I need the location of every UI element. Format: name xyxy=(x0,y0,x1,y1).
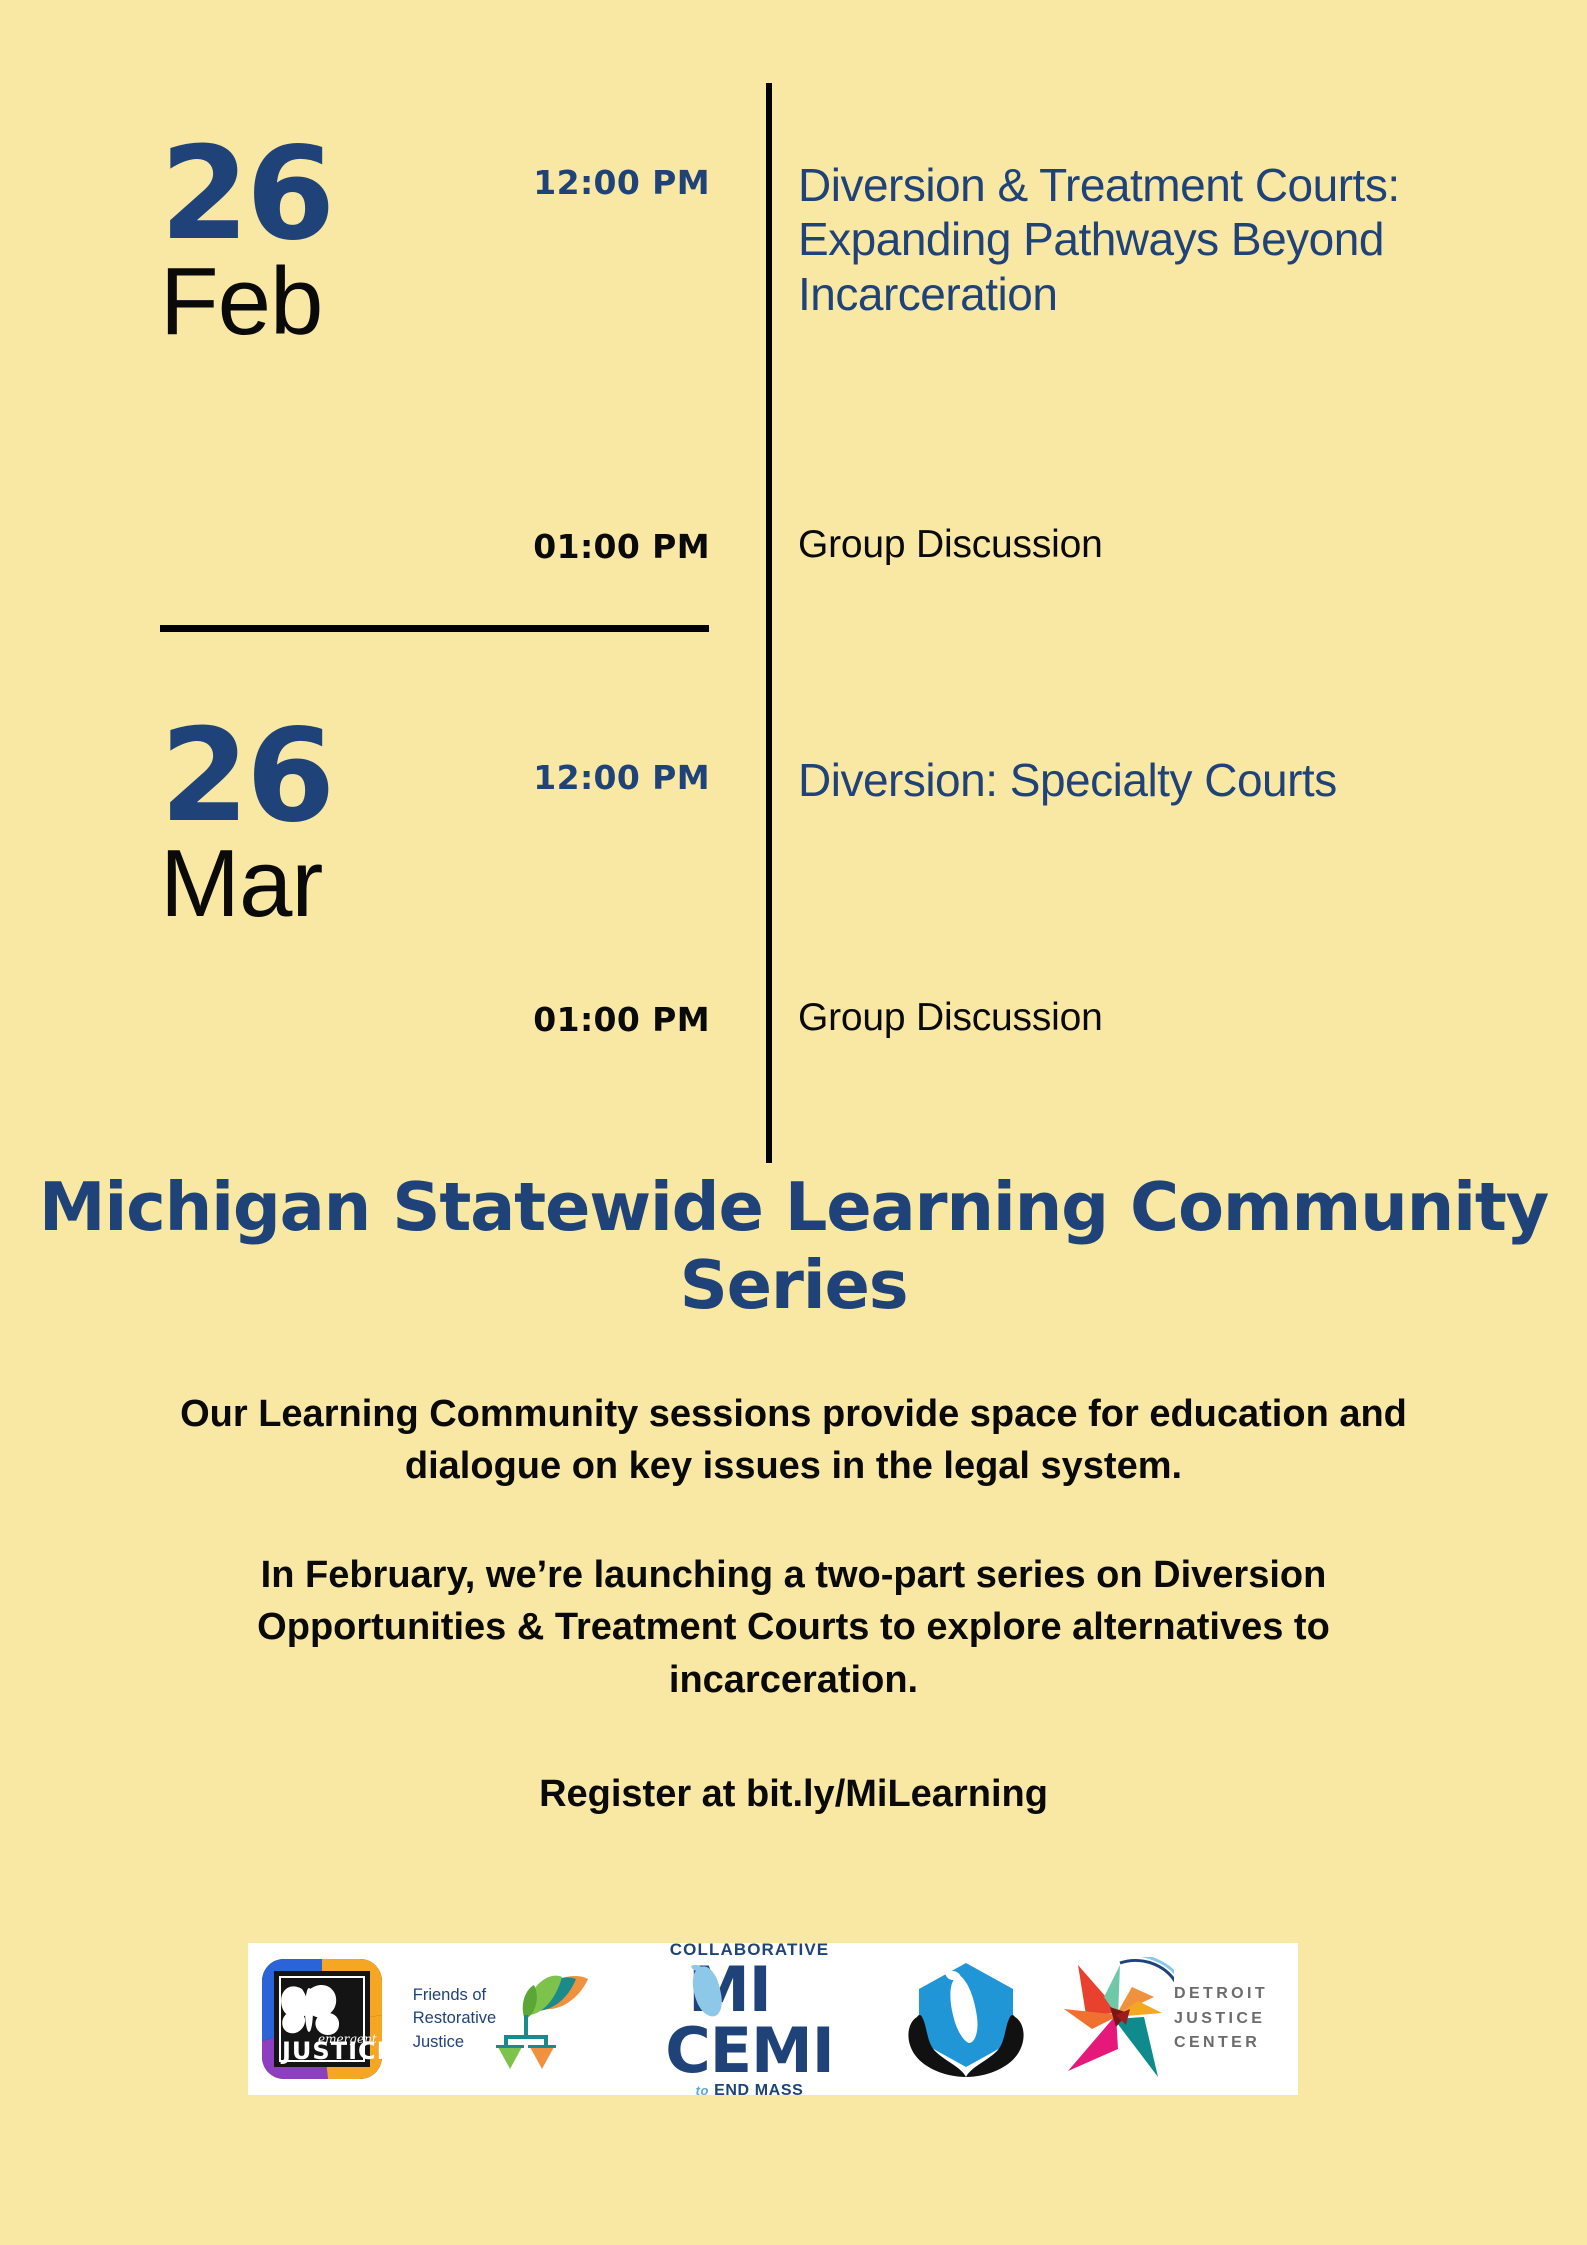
body-copy: Our Learning Community sessions provide … xyxy=(0,1388,1587,1821)
frj-line-3: Justice xyxy=(413,2031,496,2054)
event-mar-row-1-time: 01:00 PM xyxy=(310,1000,710,1039)
frj-scales-leaf-icon xyxy=(496,1963,592,2075)
event-feb-row-0-time: 12:00 PM xyxy=(310,163,710,202)
djc-line-3: CENTER xyxy=(1174,2031,1268,2056)
register-link[interactable]: Register at bit.ly/MiLearning xyxy=(139,1768,1449,1820)
flyer-poster: 26 Feb 12:00 PM Diversion & Treatment Co… xyxy=(0,0,1587,2245)
event-feb-row-0-title: Diversion & Treatment Courts: Expanding … xyxy=(798,158,1498,321)
svg-text:JUSTICE: JUSTICE xyxy=(280,2037,386,2065)
michigan-state-shape-icon xyxy=(687,1962,731,2024)
michigan-hands-logo xyxy=(901,1955,1031,2083)
djc-line-1: DETROIT xyxy=(1174,1982,1268,2007)
event-month-feb: Feb xyxy=(160,254,332,350)
event-mar-row-0-time: 12:00 PM xyxy=(310,758,710,797)
frj-line-1: Friends of xyxy=(413,1984,496,2007)
micemi-wordmark: MICEMI xyxy=(625,1960,875,2082)
body-paragraph-2: In February, we’re launching a two-part … xyxy=(139,1549,1449,1706)
michigan-hands-icon xyxy=(901,1955,1031,2083)
page-title: Michigan Statewide Learning Community Se… xyxy=(0,1168,1587,1325)
frj-wordmark: Friends of Restorative Justice xyxy=(413,1984,496,2054)
event-day-feb: 26 xyxy=(160,140,332,250)
detroit-justice-center-logo: DETROIT JUSTICE CENTER xyxy=(1058,1954,1288,2084)
event-day-mar: 26 xyxy=(160,722,332,832)
event-month-mar: Mar xyxy=(160,836,332,932)
micemi-mid-right: CEMI xyxy=(665,2014,834,2087)
frj-line-2: Restorative xyxy=(413,2007,496,2030)
djc-wordmark: DETROIT JUSTICE CENTER xyxy=(1174,1982,1268,2056)
schedule-section: 26 Feb 12:00 PM Diversion & Treatment Co… xyxy=(0,0,1587,1170)
event-feb-row-1-time: 01:00 PM xyxy=(310,527,710,566)
event-mar-row-0-title: Diversion: Specialty Courts xyxy=(798,753,1498,807)
djc-line-2: JUSTICE xyxy=(1174,2007,1268,2032)
body-paragraph-1: Our Learning Community sessions provide … xyxy=(139,1388,1449,1493)
emergent-justice-icon: emergent JUSTICE xyxy=(258,1955,386,2083)
event-date-mar: 26 Mar xyxy=(160,722,332,932)
partner-logo-strip: emergent JUSTICE Friends of Restorative … xyxy=(248,1943,1298,2095)
event-mar-row-1-title: Group Discussion xyxy=(798,995,1498,1042)
event-date-feb: 26 Feb xyxy=(160,140,332,350)
event-feb-row-1-title: Group Discussion xyxy=(798,522,1498,569)
schedule-horizontal-divider xyxy=(160,625,709,632)
friends-of-restorative-justice-logo: Friends of Restorative Justice xyxy=(413,1959,598,2079)
emergent-justice-logo: emergent JUSTICE xyxy=(258,1955,386,2083)
schedule-vertical-divider xyxy=(766,83,772,1163)
mi-cemi-logo: MICHIGAN COLLABORATIVE MICEMI to END MAS… xyxy=(625,1964,875,2074)
djc-star-icon xyxy=(1058,1957,1174,2081)
